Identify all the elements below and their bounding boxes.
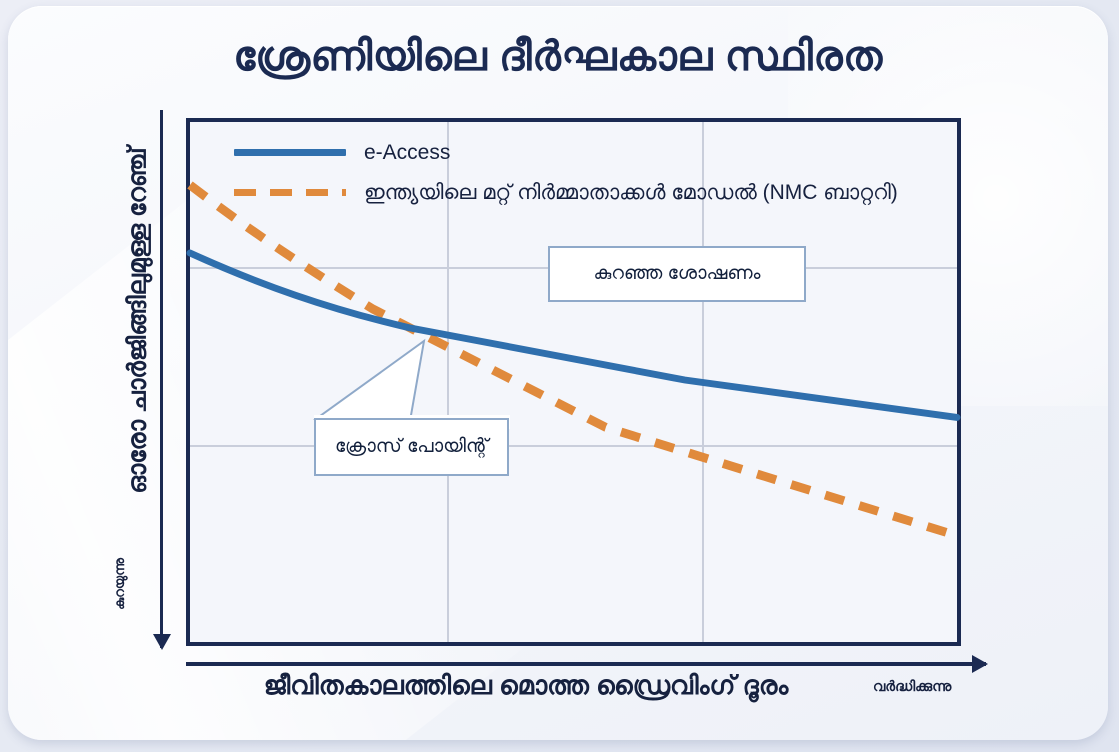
chart-plot-area: e-Access ഇന്ത്യയിലെ മറ്റ് നിർമ്മാതാക്കൾ …: [186, 118, 961, 646]
y-axis: ഓരോ ചാർജിങ്ങിലുമുള്ള റേഞ്ച് കുറയുന്നു: [104, 106, 184, 654]
chart-legend: e-Access ഇന്ത്യയിലെ മറ്റ് നിർമ്മാതാക്കൾ …: [234, 140, 898, 221]
legend-item-nmc: ഇന്ത്യയിലെ മറ്റ് നിർമ്മാതാക്കൾ മോഡൽ (NMC…: [234, 180, 898, 206]
annotation-cross-point: ക്രോസ് പോയിന്റ്: [314, 418, 509, 476]
x-axis-label: ജീവിതകാലത്തിലെ മൊത്ത ഡ്രൈവിംഗ് ദൂരം: [186, 670, 866, 702]
y-axis-label: ഓരോ ചാർജിങ്ങിലുമുള്ള റേഞ്ച്: [124, 71, 153, 571]
legend-swatch-solid-icon: [234, 149, 346, 156]
y-axis-direction-label: കുറയുന്നു: [112, 524, 128, 644]
x-axis-direction-label: വർദ്ധിക്കുന്നു: [873, 678, 1013, 695]
legend-item-eaccess: e-Access: [234, 140, 898, 166]
legend-label-nmc: ഇന്ത്യയിലെ മറ്റ് നിർമ്മാതാക്കൾ മോഡൽ (NMC…: [346, 180, 898, 206]
legend-label-eaccess: e-Access: [346, 140, 450, 166]
slide-page: ശ്രേണിയിലെ ദീർഘകാല സ്ഥിരത ഓരോ ചാർജിങ്ങില…: [0, 0, 1119, 752]
y-axis-arrow-icon: [160, 110, 163, 648]
slide-card: ശ്രേണിയിലെ ദീർഘകാല സ്ഥിരത ഓരോ ചാർജിങ്ങില…: [8, 6, 1108, 740]
x-axis-arrow-icon: [186, 662, 986, 666]
annotation-low-degradation: കുറഞ്ഞ ശോഷണം: [548, 246, 806, 302]
legend-swatch-dashed-icon: [234, 189, 346, 196]
page-title: ശ്രേണിയിലെ ദീർഘകാല സ്ഥിരത: [8, 34, 1108, 79]
